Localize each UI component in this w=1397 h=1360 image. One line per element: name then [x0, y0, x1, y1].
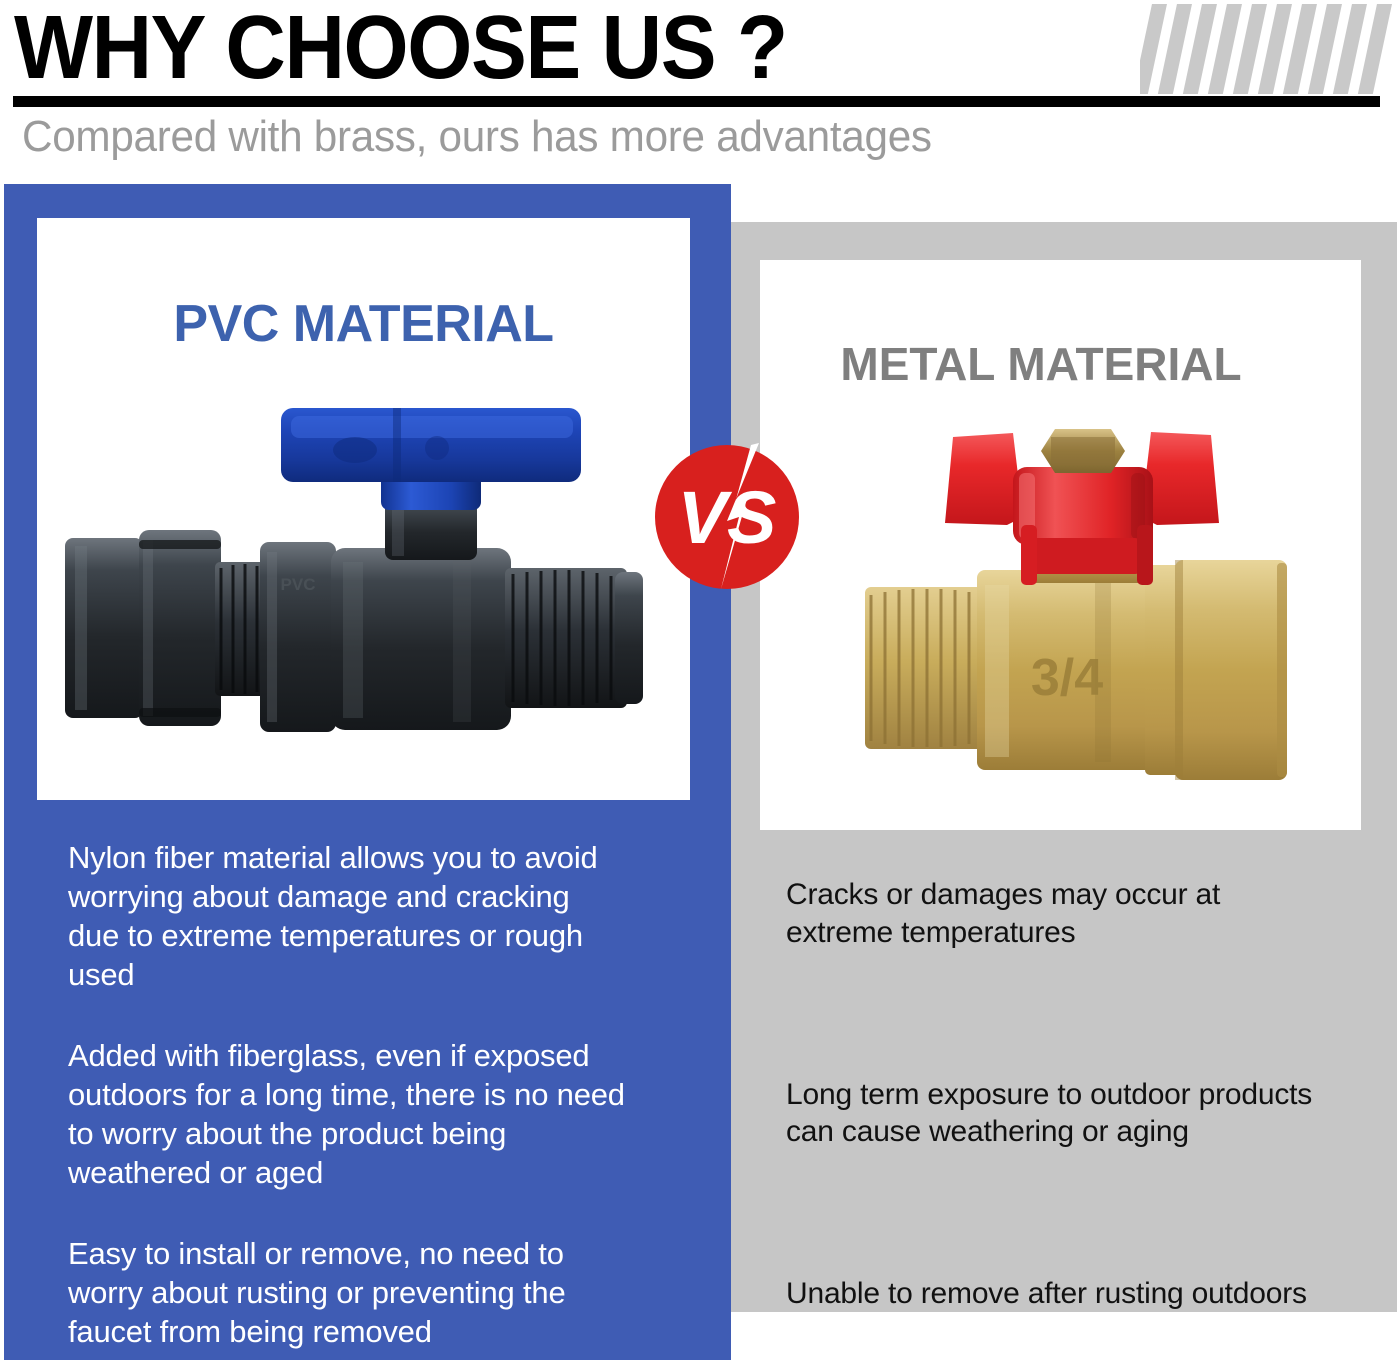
pvc-ball-valve-image: PVC — [55, 390, 675, 790]
header: WHY CHOOSE US ? Compared with brass, our… — [0, 0, 1397, 178]
page-title: WHY CHOOSE US ? — [14, 0, 787, 100]
metal-drawback-item: Long term exposure to outdoor products c… — [786, 1076, 1331, 1152]
pvc-panel-title: PVC MATERIAL — [37, 294, 690, 354]
pvc-benefit-item: Easy to install or remove, no need to wo… — [68, 1234, 628, 1351]
metal-panel-title: METAL MATERIAL — [761, 337, 1321, 391]
pvc-benefit-item: Added with fiberglass, even if exposed o… — [68, 1036, 628, 1192]
page-subtitle: Compared with brass, ours has more advan… — [22, 112, 932, 162]
diagonal-stripes-decoration — [1140, 4, 1392, 94]
vs-badge: VS — [647, 437, 807, 597]
pvc-thread-left — [215, 562, 265, 696]
pvc-end-cap — [65, 530, 221, 726]
header-divider — [13, 96, 1380, 107]
metal-drawback-item: Cracks or damages may occur at extreme t… — [786, 876, 1331, 952]
brass-size-marking: 3/4 — [1031, 649, 1103, 707]
why-choose-us-infographic: WHY CHOOSE US ? Compared with brass, our… — [0, 0, 1397, 1360]
pvc-thread-right — [505, 568, 643, 708]
brass-female-end — [1175, 560, 1287, 780]
metal-drawback-item: Unable to remove after rusting outdoors — [786, 1275, 1331, 1313]
brass-male-thread — [865, 587, 983, 749]
pvc-benefits-list: Nylon fiber material allows you to avoid… — [68, 838, 628, 1360]
pvc-body-marking: PVC — [281, 575, 316, 594]
brass-hex-nut — [1041, 429, 1125, 473]
metal-drawbacks-list: Cracks or damages may occur at extreme t… — [786, 876, 1331, 1360]
pvc-benefit-item: Nylon fiber material allows you to avoid… — [68, 838, 628, 994]
brass-ball-valve-image: 3/4 8 — [845, 405, 1325, 805]
blue-t-handle — [281, 408, 581, 482]
vs-badge-label: VS — [678, 476, 777, 559]
